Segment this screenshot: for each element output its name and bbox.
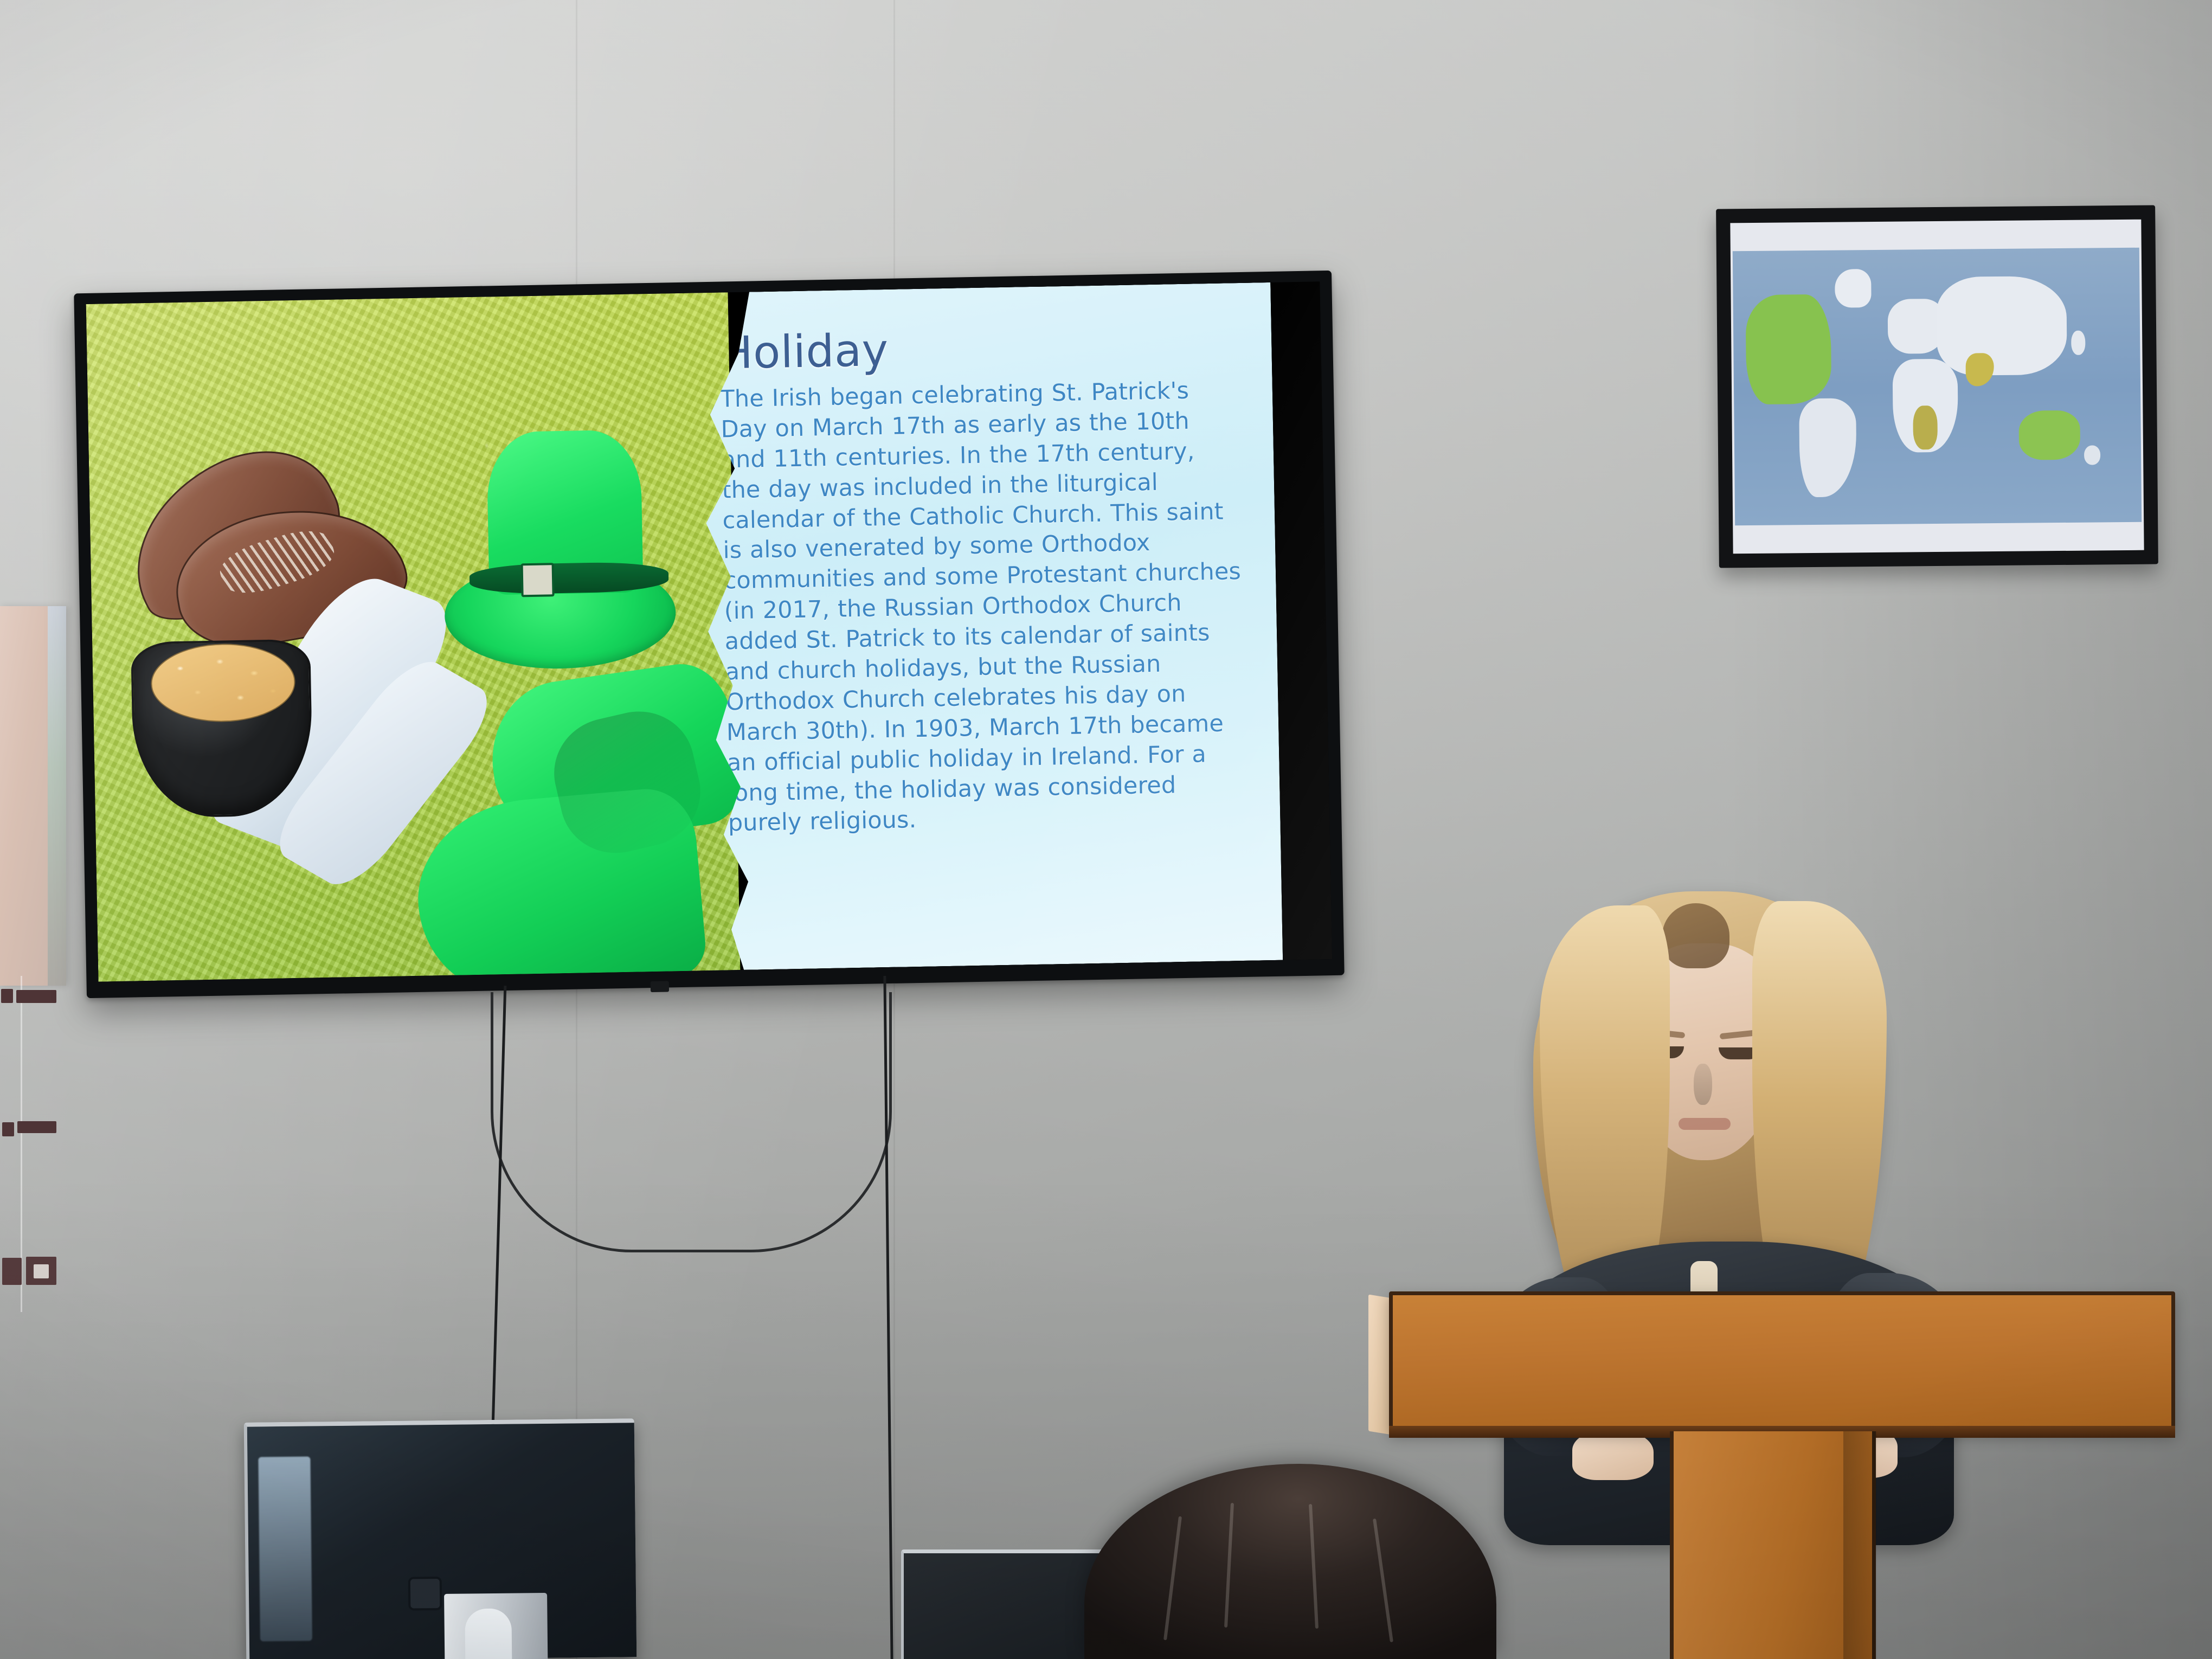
map-south-america (1799, 398, 1857, 498)
hat-buckle-icon (520, 563, 555, 597)
hair-strand (1224, 1503, 1234, 1628)
hair-strand (1163, 1516, 1182, 1640)
wall-notice (0, 976, 68, 1312)
map-new-zealand (2084, 446, 2100, 465)
framed-world-map (1716, 205, 2158, 568)
monitor-stand-inner (465, 1609, 512, 1659)
notice-mark (2, 1122, 14, 1136)
map-asia (1936, 276, 2067, 376)
hair-strand (1373, 1519, 1393, 1643)
map-madagascar (1913, 406, 1938, 449)
lectern-top (1389, 1291, 2175, 1432)
mouth (1679, 1118, 1731, 1130)
hair-strand (1309, 1504, 1319, 1629)
slide-body-text: The Irish began celebrating St. Patrick'… (720, 375, 1246, 839)
notice-mark (34, 1264, 49, 1278)
world-map-image (1733, 248, 2142, 526)
display-cable-loop (491, 992, 892, 1252)
monitor-hinge (408, 1577, 442, 1611)
slide-photo-leprechaun (86, 292, 740, 981)
slide-text-panel: Holiday The Irish began celebrating St. … (678, 282, 1283, 971)
hair-part (1662, 903, 1729, 968)
lectern-column-shadow (1843, 1431, 1877, 1659)
map-mat (1730, 220, 2144, 554)
slide-title: Holiday (719, 322, 1237, 376)
door-jamb-strip (0, 606, 66, 986)
notice-mark (1, 989, 13, 1003)
wall-mounted-display[interactable]: Holiday The Irish began celebrating St. … (74, 271, 1344, 998)
map-north-america (1745, 294, 1831, 405)
nose (1694, 1064, 1712, 1105)
map-india (1965, 353, 1994, 386)
presentation-room-photo: Holiday The Irish began celebrating St. … (0, 0, 2212, 1659)
map-greenland (1835, 269, 1872, 307)
jamb-reflection (48, 606, 66, 986)
display-screen: Holiday The Irish began celebrating St. … (86, 281, 1333, 981)
computer-monitor-rear (244, 1418, 637, 1659)
notice-mark (17, 1121, 56, 1133)
notice-mark (2, 1258, 22, 1285)
map-japan (2071, 330, 2086, 355)
map-australia (2018, 410, 2080, 460)
notice-mark (16, 990, 56, 1003)
monitor-highlight (258, 1457, 312, 1642)
display-mount-nub (651, 981, 669, 992)
